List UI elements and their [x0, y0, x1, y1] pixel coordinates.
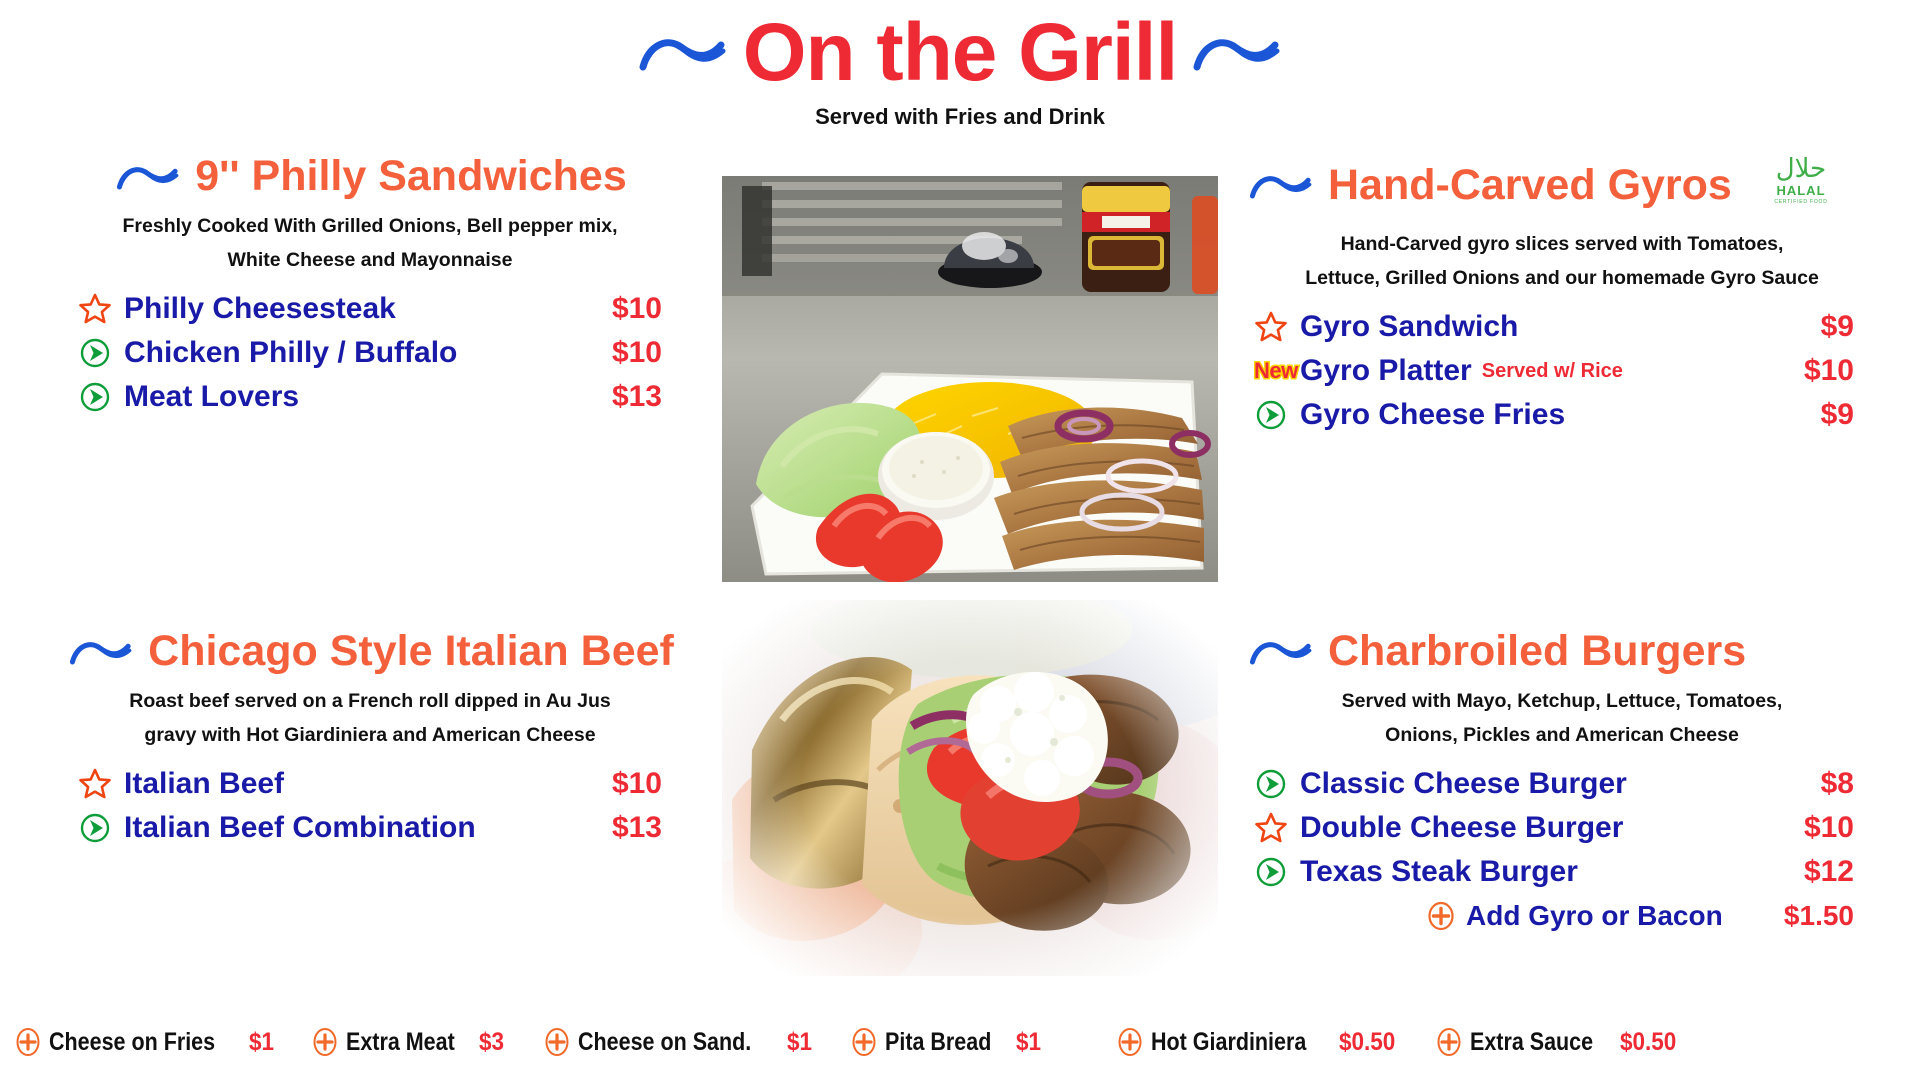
- addon-item[interactable]: Cheese on Fries $1: [14, 1027, 277, 1057]
- addon-label: Cheese on Sand.: [578, 1028, 751, 1057]
- menu-item[interactable]: Gyro Cheese Fries $9: [1254, 393, 1854, 437]
- addon-label: Pita Bread: [885, 1028, 991, 1057]
- menu-item-name: Meat Lovers: [124, 380, 299, 414]
- menu-item-price: $10: [1804, 811, 1854, 845]
- plus-circle-icon: [543, 1027, 571, 1057]
- menu-item-price: $8: [1821, 767, 1854, 801]
- menu-item-price: $9: [1821, 310, 1854, 344]
- arrow-circle-icon: [1254, 855, 1300, 889]
- menu-item-price: $10: [612, 767, 662, 801]
- menu-item-price: $10: [612, 336, 662, 370]
- halal-certified-badge: حلال HALAL CERTIFIED FOOD: [1762, 151, 1840, 212]
- arrow-circle-icon: [78, 380, 124, 414]
- section-gyros-items: Gyro Sandwich $9 New Gyro Platter Served…: [1232, 305, 1892, 437]
- section-gyros-header: Hand-Carved Gyros حلال HALAL CERTIFIED F…: [1232, 155, 1892, 216]
- menu-item-name: Philly Cheesesteak: [124, 292, 396, 326]
- menu-item-addon[interactable]: Add Gyro or Bacon $1.50: [1254, 894, 1854, 938]
- halal-sublabel: CERTIFIED FOOD: [1774, 199, 1827, 205]
- addon-label: Extra Sauce: [1470, 1028, 1593, 1057]
- page-subtitle: Served with Fries and Drink: [0, 104, 1920, 130]
- menu-item[interactable]: Italian Beef $10: [78, 762, 662, 806]
- section-italian-beef-title: Chicago Style Italian Beef: [148, 630, 674, 673]
- page-title: On the Grill: [743, 12, 1177, 94]
- star-icon: [1254, 811, 1300, 845]
- menu-item-name: Gyro Cheese Fries: [1300, 398, 1565, 432]
- arrow-circle-icon: [1254, 767, 1300, 801]
- menu-item-note: Served w/ Rice: [1482, 360, 1623, 383]
- swirl-ornament-icon: [113, 157, 183, 197]
- addon-item[interactable]: Cheese on Sand. $1: [543, 1027, 814, 1057]
- menu-item-price: $13: [612, 811, 662, 845]
- section-burgers-title: Charbroiled Burgers: [1328, 630, 1746, 673]
- plus-circle-icon: [14, 1027, 42, 1057]
- menu-item[interactable]: Texas Steak Burger $12: [1254, 850, 1854, 894]
- menu-item-name: Texas Steak Burger: [1300, 855, 1578, 889]
- swirl-ornament-icon: [66, 632, 136, 672]
- new-badge-label: New: [1254, 358, 1298, 384]
- halal-label: HALAL: [1776, 183, 1825, 198]
- addon-price: $1: [1016, 1028, 1041, 1057]
- section-burgers-description: Served with Mayo, Ketchup, Lettuce, Toma…: [1232, 685, 1892, 752]
- new-badge: New: [1254, 358, 1300, 384]
- gyro-wrap-photo: [722, 600, 1218, 976]
- addon-label: Cheese on Fries: [49, 1028, 215, 1057]
- plus-circle-icon: [311, 1027, 339, 1057]
- description-line: gravy with Hot Giardiniera and American …: [40, 719, 700, 753]
- menu-item-price: $1.50: [1784, 900, 1854, 932]
- menu-item[interactable]: Meat Lovers $13: [78, 375, 662, 419]
- addons-bar: Cheese on Fries $1 Extra Meat $3 Cheese …: [0, 1004, 1920, 1080]
- section-philly-title: 9'' Philly Sandwiches: [195, 155, 627, 198]
- addon-item[interactable]: Pita Bread $1: [850, 1027, 1043, 1057]
- swirl-ornament-left-icon: [637, 25, 729, 81]
- description-line: White Cheese and Mayonnaise: [40, 244, 700, 278]
- page-header: On the Grill Served with Fries and Drink: [0, 0, 1920, 150]
- menu-item-name: Classic Cheese Burger: [1300, 767, 1627, 801]
- menu-item-price: $12: [1804, 855, 1854, 889]
- section-philly-items: Philly Cheesesteak $10 Chicken Philly / …: [40, 287, 700, 419]
- description-line: Roast beef served on a French roll dippe…: [40, 685, 700, 719]
- section-italian-beef-description: Roast beef served on a French roll dippe…: [40, 685, 700, 752]
- addon-label: Extra Meat: [346, 1028, 455, 1057]
- gyro-platter-photo: [722, 176, 1218, 582]
- menu-item[interactable]: Double Cheese Burger $10: [1254, 806, 1854, 850]
- plus-circle-icon: [850, 1027, 878, 1057]
- description-line: Served with Mayo, Ketchup, Lettuce, Toma…: [1232, 685, 1892, 719]
- description-line: Hand-Carved gyro slices served with Toma…: [1232, 228, 1892, 262]
- arrow-circle-icon: [1254, 398, 1300, 432]
- menu-item[interactable]: Italian Beef Combination $13: [78, 806, 662, 850]
- star-icon: [78, 767, 124, 801]
- addon-item[interactable]: Extra Meat $3: [311, 1027, 507, 1057]
- menu-item[interactable]: Chicken Philly / Buffalo $10: [78, 331, 662, 375]
- menu-item-name: Gyro Sandwich: [1300, 310, 1518, 344]
- addon-item[interactable]: Hot Giardiniera $0.50: [1116, 1027, 1401, 1057]
- menu-item-price: $13: [612, 380, 662, 414]
- section-italian-beef-items: Italian Beef $10 Italian Beef Combinatio…: [40, 762, 700, 850]
- menu-item[interactable]: Philly Cheesesteak $10: [78, 287, 662, 331]
- section-philly-header: 9'' Philly Sandwiches: [40, 155, 700, 198]
- menu-item[interactable]: New Gyro Platter Served w/ Rice $10: [1254, 349, 1854, 393]
- plus-circle-icon: [1116, 1027, 1144, 1057]
- menu-item-name: Italian Beef Combination: [124, 811, 476, 845]
- section-italian-beef-header: Chicago Style Italian Beef: [40, 630, 700, 673]
- star-icon: [1254, 310, 1300, 344]
- section-italian-beef: Chicago Style Italian Beef Roast beef se…: [40, 630, 700, 850]
- addon-price: $0.50: [1620, 1028, 1676, 1057]
- halal-arabic: حلال: [1776, 154, 1826, 184]
- star-icon: [78, 292, 124, 326]
- section-burgers-header: Charbroiled Burgers: [1232, 630, 1892, 673]
- menu-item[interactable]: Classic Cheese Burger $8: [1254, 762, 1854, 806]
- title-row: On the Grill: [0, 0, 1920, 106]
- arrow-circle-icon: [78, 811, 124, 845]
- addon-item[interactable]: Extra Sauce $0.50: [1435, 1027, 1683, 1057]
- description-line: Onions, Pickles and American Cheese: [1232, 719, 1892, 753]
- description-line: Freshly Cooked With Grilled Onions, Bell…: [40, 210, 700, 244]
- description-line: Lettuce, Grilled Onions and our homemade…: [1232, 262, 1892, 296]
- addon-price: $1: [787, 1028, 812, 1057]
- addon-label: Hot Giardiniera: [1151, 1028, 1306, 1057]
- section-gyros-title: Hand-Carved Gyros: [1328, 164, 1732, 207]
- menu-item-price: $10: [612, 292, 662, 326]
- addon-price: $3: [479, 1028, 504, 1057]
- addon-price: $1: [249, 1028, 274, 1057]
- swirl-ornament-icon: [1246, 166, 1316, 206]
- section-philly: 9'' Philly Sandwiches Freshly Cooked Wit…: [40, 155, 700, 419]
- addon-price: $0.50: [1339, 1028, 1395, 1057]
- plus-circle-icon: [1426, 901, 1466, 931]
- section-gyros: Hand-Carved Gyros حلال HALAL CERTIFIED F…: [1232, 155, 1892, 437]
- menu-item-name: Gyro Platter: [1300, 354, 1472, 388]
- menu-item-name: Italian Beef: [124, 767, 284, 801]
- arrow-circle-icon: [78, 336, 124, 370]
- section-gyros-description: Hand-Carved gyro slices served with Toma…: [1232, 228, 1892, 295]
- swirl-ornament-right-icon: [1191, 25, 1283, 81]
- menu-item-name: Chicken Philly / Buffalo: [124, 336, 457, 370]
- plus-circle-icon: [1435, 1027, 1463, 1057]
- section-burgers: Charbroiled Burgers Served with Mayo, Ke…: [1232, 630, 1892, 938]
- menu-item-name: Double Cheese Burger: [1300, 811, 1623, 845]
- menu-item-name: Add Gyro or Bacon: [1466, 900, 1723, 932]
- menu-item[interactable]: Gyro Sandwich $9: [1254, 305, 1854, 349]
- section-burgers-items: Classic Cheese Burger $8 Double Cheese B…: [1232, 762, 1892, 938]
- menu-item-price: $9: [1821, 398, 1854, 432]
- swirl-ornament-icon: [1246, 632, 1316, 672]
- menu-item-price: $10: [1804, 354, 1854, 388]
- section-philly-description: Freshly Cooked With Grilled Onions, Bell…: [40, 210, 700, 277]
